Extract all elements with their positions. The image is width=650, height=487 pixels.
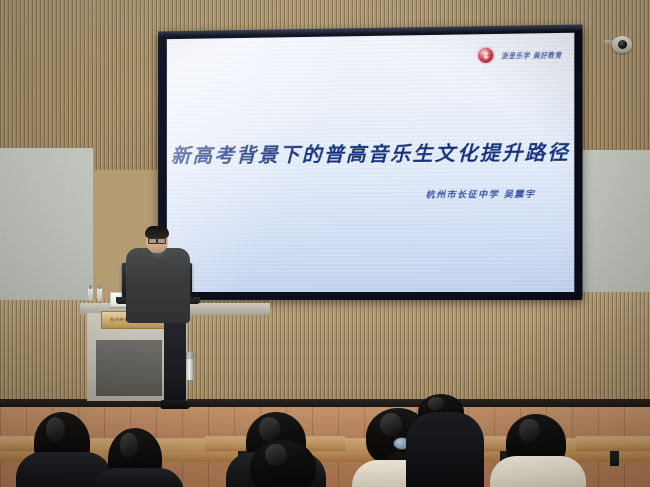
slide-logo: 浙里乐学 美好教育	[477, 45, 562, 64]
wood-slat-wall-right-lower	[556, 292, 650, 404]
thermos-flask	[185, 352, 194, 380]
slide-surface: 浙里乐学 美好教育 新高考背景下的普高音乐生文化提升路径 杭州市长征中学 吴震宇	[167, 33, 574, 292]
wall-camera-icon	[612, 36, 632, 53]
slide-subtitle: 杭州市长征中学 吴震宇	[426, 187, 536, 201]
audience-coat	[406, 412, 484, 487]
school-emblem-icon	[477, 46, 495, 64]
presenter-legs	[164, 318, 186, 408]
bench-row-right	[576, 436, 650, 451]
water-bottle	[88, 288, 93, 301]
slide-logo-text: 浙里乐学 美好教育	[501, 48, 562, 60]
wood-slat-wall-left-lower	[0, 300, 96, 408]
glasses-icon	[148, 238, 166, 242]
audience-coat	[92, 468, 184, 487]
presenter-hair	[145, 226, 169, 238]
grey-wall-panel-left	[0, 148, 93, 301]
podium-front-panel	[96, 340, 162, 396]
presenter-shoe	[160, 400, 190, 409]
slide-title: 新高考背景下的普高音乐生文化提升路径	[167, 136, 574, 169]
audience-coat	[490, 456, 586, 487]
projection-screen[interactable]: 浙里乐学 美好教育 新高考背景下的普高音乐生文化提升路径 杭州市长征中学 吴震宇	[158, 24, 582, 300]
water-bottle	[97, 288, 102, 301]
audience-hair	[250, 440, 316, 487]
lecture-hall-photo: 浙里乐学 美好教育 新高考背景下的普高音乐生文化提升路径 杭州市长征中学 吴震宇…	[0, 0, 650, 487]
